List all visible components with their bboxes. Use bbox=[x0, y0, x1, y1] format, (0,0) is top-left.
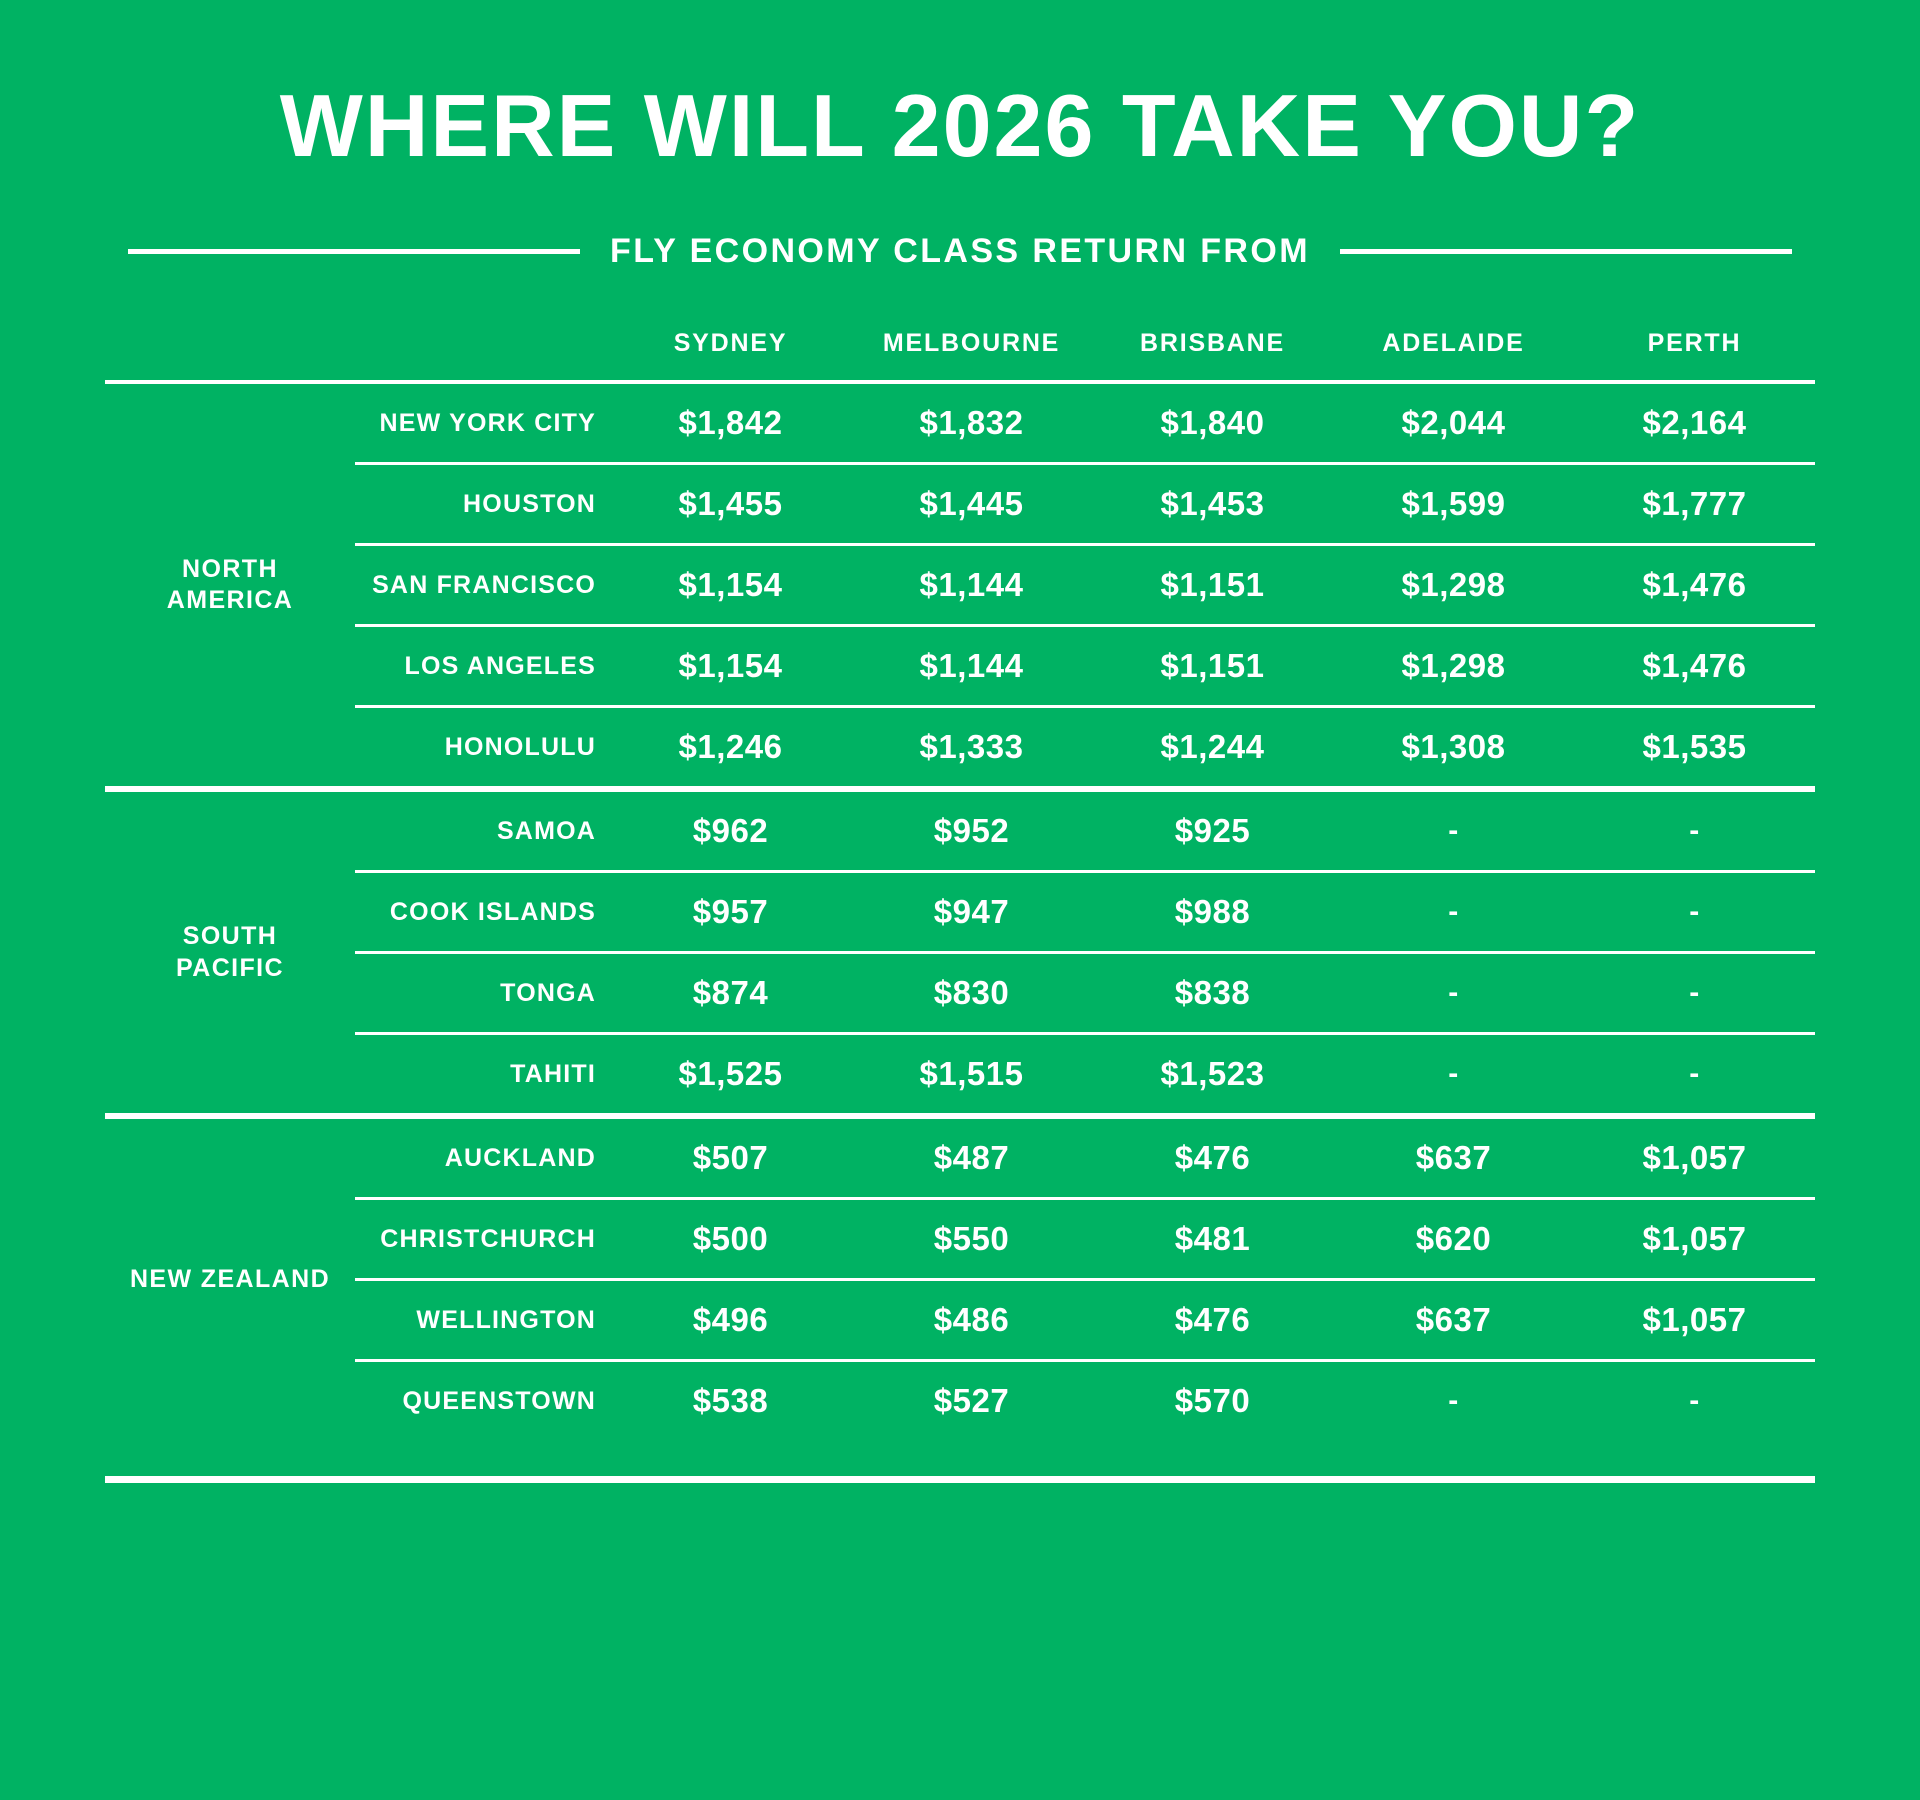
destination-label: SAMOA bbox=[355, 792, 610, 870]
price-cell: $1,840 bbox=[1092, 384, 1333, 462]
price-cell: $486 bbox=[851, 1281, 1092, 1359]
price-cell: $1,777 bbox=[1574, 465, 1815, 543]
price-cell: $1,144 bbox=[851, 546, 1092, 624]
column-header-melbourne: MELBOURNE bbox=[851, 329, 1092, 380]
price-cell: $1,154 bbox=[610, 627, 851, 705]
price-cell: $1,515 bbox=[851, 1035, 1092, 1113]
price-cell: - bbox=[1574, 954, 1815, 1032]
destination-label: WELLINGTON bbox=[355, 1281, 610, 1359]
column-header-brisbane: BRISBANE bbox=[1092, 329, 1333, 380]
destination-label: TONGA bbox=[355, 954, 610, 1032]
price-cell: $988 bbox=[1092, 873, 1333, 951]
price-cell: $1,535 bbox=[1574, 708, 1815, 786]
price-cell: $1,057 bbox=[1574, 1281, 1815, 1359]
group-label: SOUTHPACIFIC bbox=[105, 792, 355, 1113]
price-cell: $1,144 bbox=[851, 627, 1092, 705]
price-cell: $957 bbox=[610, 873, 851, 951]
table-head: SYDNEY MELBOURNE BRISBANE ADELAIDE PERTH bbox=[105, 329, 1815, 380]
table-row: HOUSTON$1,455$1,445$1,453$1,599$1,777 bbox=[105, 465, 1815, 543]
table-row: QUEENSTOWN$538$527$570-- bbox=[105, 1362, 1815, 1440]
price-cell: $527 bbox=[851, 1362, 1092, 1440]
destination-label: LOS ANGELES bbox=[355, 627, 610, 705]
price-cell: $947 bbox=[851, 873, 1092, 951]
destination-label: COOK ISLANDS bbox=[355, 873, 610, 951]
price-cell: $496 bbox=[610, 1281, 851, 1359]
table-row: NEW ZEALANDAUCKLAND$507$487$476$637$1,05… bbox=[105, 1119, 1815, 1197]
price-cell: - bbox=[1574, 1035, 1815, 1113]
price-cell: $570 bbox=[1092, 1362, 1333, 1440]
destination-label: HOUSTON bbox=[355, 465, 610, 543]
price-cell: $1,246 bbox=[610, 708, 851, 786]
price-cell: $1,525 bbox=[610, 1035, 851, 1113]
column-header-adelaide: ADELAIDE bbox=[1333, 329, 1574, 380]
subtitle-row: FLY ECONOMY CLASS RETURN FROM bbox=[128, 232, 1792, 271]
price-cell: - bbox=[1333, 792, 1574, 870]
table-body: NORTHAMERICANEW YORK CITY$1,842$1,832$1,… bbox=[105, 380, 1815, 1440]
price-cell: $481 bbox=[1092, 1200, 1333, 1278]
price-cell: $1,599 bbox=[1333, 465, 1574, 543]
price-cell: $1,476 bbox=[1574, 627, 1815, 705]
price-cell: $637 bbox=[1333, 1119, 1574, 1197]
table-row: COOK ISLANDS$957$947$988-- bbox=[105, 873, 1815, 951]
destination-column-header bbox=[355, 329, 610, 380]
price-cell: $538 bbox=[610, 1362, 851, 1440]
price-cell: $487 bbox=[851, 1119, 1092, 1197]
table-row: WELLINGTON$496$486$476$637$1,057 bbox=[105, 1281, 1815, 1359]
price-cell: $874 bbox=[610, 954, 851, 1032]
price-cell: $1,298 bbox=[1333, 627, 1574, 705]
fare-table: SYDNEY MELBOURNE BRISBANE ADELAIDE PERTH… bbox=[105, 329, 1815, 1440]
destination-label: SAN FRANCISCO bbox=[355, 546, 610, 624]
price-cell: $2,164 bbox=[1574, 384, 1815, 462]
column-header-perth: PERTH bbox=[1574, 329, 1815, 380]
page-title: WHERE WILL 2026 TAKE YOU? bbox=[0, 0, 1920, 170]
price-cell: $1,151 bbox=[1092, 627, 1333, 705]
price-cell: $1,057 bbox=[1574, 1200, 1815, 1278]
price-cell: $1,244 bbox=[1092, 708, 1333, 786]
price-cell: - bbox=[1333, 1035, 1574, 1113]
price-cell: $637 bbox=[1333, 1281, 1574, 1359]
group-label: NORTHAMERICA bbox=[105, 384, 355, 786]
price-cell: $1,298 bbox=[1333, 546, 1574, 624]
destination-label: HONOLULU bbox=[355, 708, 610, 786]
subtitle-rule-left bbox=[128, 249, 580, 254]
price-cell: - bbox=[1574, 873, 1815, 951]
price-cell: $1,453 bbox=[1092, 465, 1333, 543]
subtitle: FLY ECONOMY CLASS RETURN FROM bbox=[580, 232, 1340, 271]
fare-table-wrap: SYDNEY MELBOURNE BRISBANE ADELAIDE PERTH… bbox=[105, 329, 1815, 1440]
price-cell: $838 bbox=[1092, 954, 1333, 1032]
price-cell: $952 bbox=[851, 792, 1092, 870]
price-cell: - bbox=[1333, 954, 1574, 1032]
price-cell: $507 bbox=[610, 1119, 851, 1197]
price-cell: $476 bbox=[1092, 1281, 1333, 1359]
column-header-row: SYDNEY MELBOURNE BRISBANE ADELAIDE PERTH bbox=[105, 329, 1815, 380]
fare-poster: WHERE WILL 2026 TAKE YOU? FLY ECONOMY CL… bbox=[0, 0, 1920, 1800]
destination-label: AUCKLAND bbox=[355, 1119, 610, 1197]
price-cell: - bbox=[1333, 1362, 1574, 1440]
price-cell: $1,308 bbox=[1333, 708, 1574, 786]
price-cell: $925 bbox=[1092, 792, 1333, 870]
table-row: LOS ANGELES$1,154$1,144$1,151$1,298$1,47… bbox=[105, 627, 1815, 705]
price-cell: $1,154 bbox=[610, 546, 851, 624]
price-cell: $1,333 bbox=[851, 708, 1092, 786]
price-cell: $620 bbox=[1333, 1200, 1574, 1278]
price-cell: $1,832 bbox=[851, 384, 1092, 462]
price-cell: $962 bbox=[610, 792, 851, 870]
table-row: SAN FRANCISCO$1,154$1,144$1,151$1,298$1,… bbox=[105, 546, 1815, 624]
price-cell: $1,523 bbox=[1092, 1035, 1333, 1113]
destination-label: QUEENSTOWN bbox=[355, 1362, 610, 1440]
price-cell: - bbox=[1574, 792, 1815, 870]
group-column-header bbox=[105, 329, 355, 380]
price-cell: $500 bbox=[610, 1200, 851, 1278]
price-cell: $550 bbox=[851, 1200, 1092, 1278]
price-cell: $1,057 bbox=[1574, 1119, 1815, 1197]
price-cell: $830 bbox=[851, 954, 1092, 1032]
table-row: CHRISTCHURCH$500$550$481$620$1,057 bbox=[105, 1200, 1815, 1278]
price-cell: $2,044 bbox=[1333, 384, 1574, 462]
table-row: SOUTHPACIFICSAMOA$962$952$925-- bbox=[105, 792, 1815, 870]
price-cell: $1,842 bbox=[610, 384, 851, 462]
price-cell: $1,476 bbox=[1574, 546, 1815, 624]
table-row: TAHITI$1,525$1,515$1,523-- bbox=[105, 1035, 1815, 1113]
table-row: HONOLULU$1,246$1,333$1,244$1,308$1,535 bbox=[105, 708, 1815, 786]
column-header-sydney: SYDNEY bbox=[610, 329, 851, 380]
subtitle-rule-right bbox=[1340, 249, 1792, 254]
destination-label: CHRISTCHURCH bbox=[355, 1200, 610, 1278]
table-bottom-rule bbox=[105, 1476, 1815, 1483]
destination-label: NEW YORK CITY bbox=[355, 384, 610, 462]
table-row: TONGA$874$830$838-- bbox=[105, 954, 1815, 1032]
price-cell: $1,151 bbox=[1092, 546, 1333, 624]
destination-label: TAHITI bbox=[355, 1035, 610, 1113]
price-cell: $1,445 bbox=[851, 465, 1092, 543]
price-cell: $1,455 bbox=[610, 465, 851, 543]
price-cell: $476 bbox=[1092, 1119, 1333, 1197]
table-row: NORTHAMERICANEW YORK CITY$1,842$1,832$1,… bbox=[105, 384, 1815, 462]
price-cell: - bbox=[1574, 1362, 1815, 1440]
price-cell: - bbox=[1333, 873, 1574, 951]
group-label: NEW ZEALAND bbox=[105, 1119, 355, 1440]
